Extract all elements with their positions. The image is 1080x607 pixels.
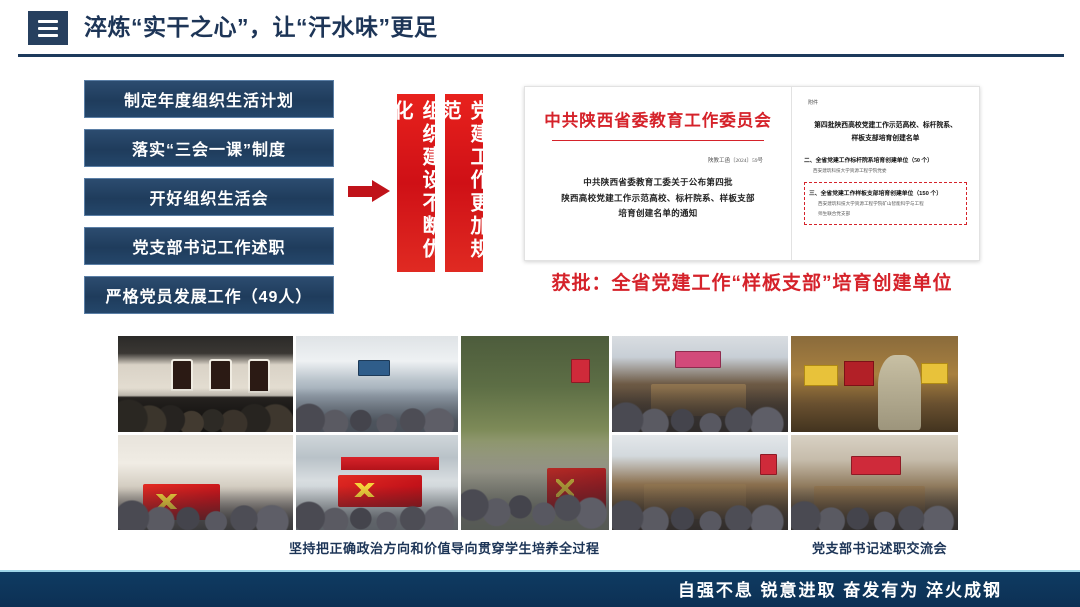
photo-outdoor-group[interactable] bbox=[461, 336, 609, 530]
outcome-banner-2: 党建工作更加规范 bbox=[445, 94, 483, 272]
presentation-screen bbox=[675, 351, 721, 368]
attachment-title: 第四批陕西高校党建工作示范高校、标杆院系、 样板支部培育创建名单 bbox=[804, 120, 967, 146]
arrow-shaft bbox=[348, 186, 374, 197]
document-body-line-3: 培育创建名单的通知 bbox=[561, 206, 755, 222]
crowd-shape bbox=[296, 388, 458, 432]
projector-screen bbox=[358, 360, 390, 376]
page-title: 淬炼“实干之心”，让“汗水味”更足 bbox=[84, 8, 438, 46]
crowd-shape bbox=[791, 486, 958, 530]
attachment-item-3-sub-1: 西安建筑科技大学资源工程学院矿山智能科学与工程 bbox=[818, 201, 962, 207]
photo-museum-flag[interactable] bbox=[118, 435, 293, 531]
photo-column-5 bbox=[791, 336, 958, 530]
photo-caption-left: 坚持把正确政治方向和价值导向贯穿学生培养全过程 bbox=[289, 538, 600, 557]
photo-courtyard-gathering[interactable] bbox=[118, 336, 293, 432]
footer-slogan: 自强不息 锐意进取 奋发有为 淬火成钢 bbox=[678, 576, 1002, 601]
red-banner-strip bbox=[341, 457, 438, 469]
measure-item-5[interactable]: 严格党员发展工作（49人） bbox=[84, 276, 334, 314]
attachment-item-3-heading: 三、全省党建工作样板支部培育创建单位（150 个） bbox=[809, 188, 962, 197]
photo-stage-exchange-meeting[interactable] bbox=[791, 435, 958, 531]
header-divider bbox=[18, 54, 1064, 57]
document-caption: 获批：全省党建工作“样板支部”培育创建单位 bbox=[524, 268, 980, 295]
document-page-left: 中共陕西省委教育工作委员会 陕教工函〔2024〕59号 中共陕西省委教育工委关于… bbox=[524, 86, 792, 261]
photo-caption-right: 党支部书记述职交流会 bbox=[812, 538, 947, 557]
document-body-line-1: 中共陕西省委教育工委关于公布第四批 bbox=[561, 175, 755, 191]
slide-footer: 自强不息 锐意进取 奋发有为 淬火成钢 bbox=[0, 570, 1080, 607]
photo-classroom-lecture[interactable] bbox=[296, 336, 458, 432]
photo-outdoor-banner-flag[interactable] bbox=[296, 435, 458, 531]
photo-meeting-room-discussion[interactable] bbox=[612, 336, 788, 432]
crowd-shape bbox=[612, 486, 788, 530]
document-body-line-2: 陕西高校党建工作示范高校、标杆院系、样板支部 bbox=[561, 191, 755, 207]
measure-item-3[interactable]: 开好组织生活会 bbox=[84, 178, 334, 216]
red-right-arrow-icon bbox=[348, 180, 392, 202]
slide-header: 淬炼“实干之心”，让“汗水味”更足 bbox=[0, 0, 1080, 58]
measure-item-4[interactable]: 党支部书记工作述职 bbox=[84, 227, 334, 265]
attachment-item-2-sub: 西安建筑科技大学资源工程学院党委 bbox=[813, 168, 967, 174]
photo-gallery bbox=[118, 336, 962, 530]
crowd-shape bbox=[461, 441, 609, 530]
speaker-figure bbox=[878, 355, 921, 429]
section-number-badge bbox=[28, 11, 68, 45]
photo-column-1 bbox=[118, 336, 293, 530]
attachment-item-3-sub-2: 师生联合党支部 bbox=[818, 211, 962, 217]
outcome-banner-1: 组织建设不断优化 bbox=[397, 94, 435, 272]
badge-bar-3 bbox=[38, 34, 58, 37]
attachment-title-line-2: 样板支部培育创建名单 bbox=[804, 133, 967, 146]
measure-item-1[interactable]: 制定年度组织生活计划 bbox=[84, 80, 334, 118]
measure-item-2[interactable]: 落实“三会一课”制度 bbox=[84, 129, 334, 167]
attachment-label: 附件 bbox=[808, 99, 967, 106]
attachment-item-2: 二、全省党建工作标杆院系培育创建单位（50 个） 西安建筑科技大学资源工程学院党… bbox=[804, 155, 967, 174]
badge-bar-1 bbox=[38, 20, 58, 23]
yellow-plaque bbox=[804, 365, 837, 386]
photo-column-3 bbox=[461, 336, 609, 530]
attachment-title-line-1: 第四批陕西高校党建工作示范高校、标杆院系、 bbox=[804, 120, 967, 133]
document-body: 中共陕西省委教育工委关于公布第四批 陕西高校党建工作示范高校、标杆院系、样板支部… bbox=[561, 175, 755, 222]
yellow-plaque bbox=[921, 363, 948, 384]
red-plaque bbox=[844, 361, 874, 386]
red-sign bbox=[571, 359, 590, 382]
measures-list: 制定年度组织生活计划 落实“三会一课”制度 开好组织生活会 党支部书记工作述职 … bbox=[84, 80, 334, 325]
crowd-shape bbox=[296, 486, 458, 530]
window-shape bbox=[171, 359, 194, 391]
photo-column-4 bbox=[612, 336, 788, 530]
attachment-item-3-highlighted: 三、全省党建工作样板支部培育创建单位（150 个） 西安建筑科技大学资源工程学院… bbox=[804, 182, 967, 225]
official-document-image: 中共陕西省委教育工作委员会 陕教工函〔2024〕59号 中共陕西省委教育工委关于… bbox=[524, 86, 980, 261]
document-number: 陕教工函〔2024〕59号 bbox=[708, 156, 763, 164]
window-shape bbox=[209, 359, 232, 391]
crowd-shape bbox=[118, 388, 293, 432]
crowd-shape bbox=[118, 486, 293, 530]
badge-bar-2 bbox=[38, 27, 58, 30]
footer-accent-line bbox=[0, 570, 1080, 572]
photo-column-2 bbox=[296, 336, 458, 530]
stage-screen bbox=[851, 456, 901, 475]
red-wall-sign bbox=[760, 454, 778, 475]
document-red-rule bbox=[552, 140, 764, 141]
photo-speaker-report[interactable] bbox=[791, 336, 958, 432]
photo-conference-room-seminar[interactable] bbox=[612, 435, 788, 531]
attachment-item-2-heading: 二、全省党建工作标杆院系培育创建单位（50 个） bbox=[804, 155, 967, 164]
crowd-shape bbox=[612, 388, 788, 432]
document-issuer-title: 中共陕西省委教育工作委员会 bbox=[544, 107, 772, 131]
document-page-right: 附件 第四批陕西高校党建工作示范高校、标杆院系、 样板支部培育创建名单 二、全省… bbox=[792, 86, 980, 261]
